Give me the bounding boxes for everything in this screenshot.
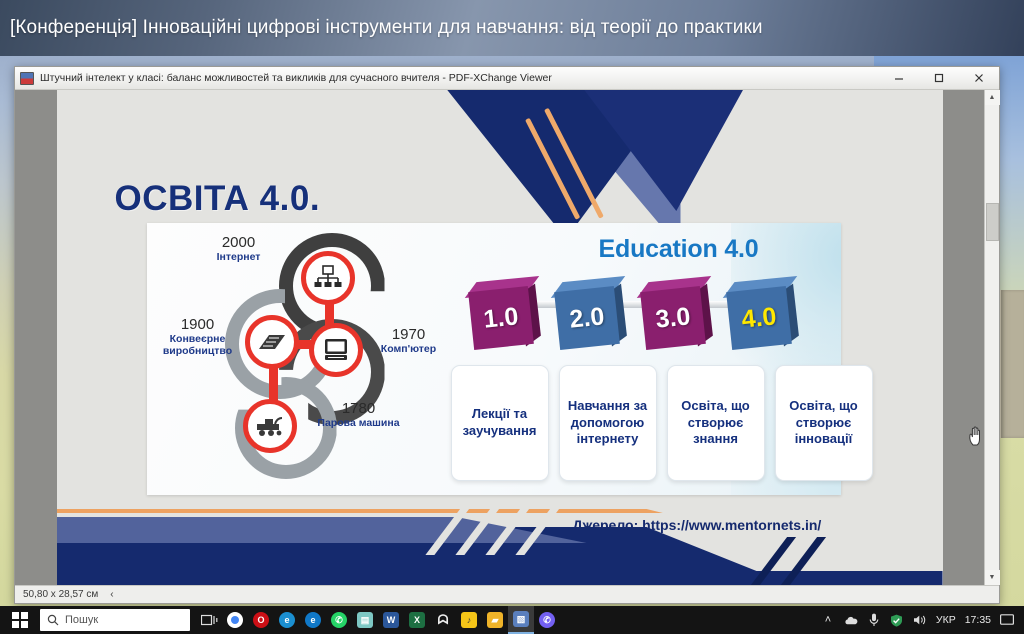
education-box-3: Освіта, що створює знання bbox=[667, 365, 765, 481]
cube-3: 3.0 bbox=[637, 279, 711, 351]
cube-2: 2.0 bbox=[551, 279, 625, 351]
edge-icon: e bbox=[279, 612, 295, 628]
clock[interactable]: 17:35 bbox=[965, 614, 991, 626]
cube-1-label: 1.0 bbox=[468, 286, 534, 350]
chevron-up-icon[interactable]: ˄ bbox=[821, 612, 835, 628]
language-indicator[interactable]: УКР bbox=[936, 614, 956, 626]
taskbar-app-explorer[interactable]: ▰ bbox=[482, 606, 508, 634]
deco-bottom-orange-line bbox=[57, 509, 943, 513]
scroll-up-icon[interactable]: ▲ bbox=[985, 90, 1000, 105]
pdf-page-viewport[interactable]: ОСВІТА 4.0. bbox=[15, 90, 984, 585]
screen-share-panel bbox=[1000, 290, 1024, 438]
conference-title: [Конференція] Інноваційні цифрові інстру… bbox=[0, 17, 763, 39]
volume-icon[interactable] bbox=[913, 612, 927, 628]
security-shield-icon[interactable] bbox=[890, 612, 904, 628]
microphone-icon[interactable] bbox=[867, 612, 881, 628]
label-conveyor: 1900 Конвеєрне виробництво bbox=[149, 317, 247, 357]
education-title: Education 4.0 bbox=[539, 235, 819, 264]
windows-start-icon[interactable] bbox=[0, 606, 40, 634]
cube-3-label: 3.0 bbox=[640, 286, 706, 350]
cube-2-label: 2.0 bbox=[554, 286, 620, 350]
label-steam-machine: 1780 Парова машина bbox=[317, 401, 401, 430]
pdf-xchange-taskbar-icon: ▧ bbox=[513, 611, 529, 627]
conference-banner: [Конференція] Інноваційні цифрові інстру… bbox=[0, 0, 1024, 56]
window-titlebar[interactable]: Штучний інтелект у класі: баланс можливо… bbox=[15, 67, 999, 90]
window-title: Штучний інтелект у класі: баланс можливо… bbox=[40, 72, 879, 84]
slide-content-card: 2000 Інтернет 1900 Конвеєрне виробництво… bbox=[147, 223, 841, 495]
cat-app-icon: ᗣ bbox=[435, 612, 451, 628]
search-placeholder: Пошук bbox=[65, 614, 98, 626]
mouse-cursor-hand-icon bbox=[968, 425, 988, 449]
slide-title: ОСВІТА 4.0. bbox=[115, 179, 321, 219]
label-internet: 2000 Інтернет bbox=[187, 235, 291, 264]
scroll-down-icon[interactable]: ▼ bbox=[985, 570, 1000, 585]
education-box-4: Освіта, що створює інновації bbox=[775, 365, 873, 481]
search-icon bbox=[47, 614, 59, 626]
pdf-xchange-window: Штучний інтелект у класі: баланс можливо… bbox=[14, 66, 1000, 604]
minimize-icon[interactable] bbox=[879, 67, 919, 89]
pdf-xchange-icon bbox=[20, 72, 34, 85]
cube-4-label: 4.0 bbox=[726, 286, 792, 350]
scrollbar-track[interactable] bbox=[985, 241, 1000, 570]
education-box-2: Навчання за допомогою інтернету bbox=[559, 365, 657, 481]
node-steam-machine bbox=[243, 399, 297, 453]
taskbar-app-chrome[interactable] bbox=[222, 606, 248, 634]
steam-train-icon bbox=[254, 414, 286, 438]
industrial-revolution-infographic: 2000 Інтернет 1900 Конвеєрне виробництво… bbox=[157, 227, 447, 489]
taskbar-app-word[interactable]: W bbox=[378, 606, 404, 634]
file-explorer-icon: ▰ bbox=[487, 612, 503, 628]
restore-icon[interactable] bbox=[919, 67, 959, 89]
excel-icon: X bbox=[409, 612, 425, 628]
teal-app-icon: ▤ bbox=[357, 612, 373, 628]
network-icon bbox=[314, 265, 342, 291]
cube-4: 4.0 bbox=[723, 279, 797, 351]
scrollbar-thumb[interactable] bbox=[986, 203, 999, 241]
taskbar-app-edge[interactable]: e bbox=[300, 606, 326, 634]
notes-icon: ♪ bbox=[461, 612, 477, 628]
taskbar-app-opera[interactable]: O bbox=[248, 606, 274, 634]
taskbar-app-whatsapp[interactable]: ✆ bbox=[326, 606, 352, 634]
taskbar-app-cat[interactable]: ᗣ bbox=[430, 606, 456, 634]
cube-1: 1.0 bbox=[465, 279, 539, 351]
windows-taskbar: Пошук O e e ✆ ▤ W X ᗣ ♪ ▰ ▧ ✆ ˄ УКР 17:3… bbox=[0, 606, 1024, 634]
opera-icon: O bbox=[253, 612, 269, 628]
taskbar-app-pdf-xchange[interactable]: ▧ bbox=[508, 606, 534, 634]
taskbar-app-edge-old[interactable]: e bbox=[274, 606, 300, 634]
window-client-area: ОСВІТА 4.0. bbox=[15, 90, 999, 585]
slide-canvas: ОСВІТА 4.0. bbox=[57, 90, 943, 585]
page-size-label: 50,80 x 28,57 см bbox=[23, 589, 98, 600]
system-tray: ˄ УКР 17:35 bbox=[821, 612, 1024, 628]
taskbar-app-excel[interactable]: X bbox=[404, 606, 430, 634]
conveyor-icon bbox=[257, 331, 287, 353]
computer-icon bbox=[323, 337, 349, 363]
deco-bottom-group bbox=[57, 485, 943, 585]
taskbar-app-teal[interactable]: ▤ bbox=[352, 606, 378, 634]
statusbar-chevron-icon[interactable]: ‹ bbox=[110, 589, 113, 600]
chrome-icon bbox=[227, 612, 243, 628]
vertical-scrollbar[interactable]: ▲ ▼ bbox=[984, 90, 999, 585]
taskbar-app-notes[interactable]: ♪ bbox=[456, 606, 482, 634]
node-conveyor bbox=[245, 315, 299, 369]
taskbar-app-viber[interactable]: ✆ bbox=[534, 606, 560, 634]
edge-chromium-icon: e bbox=[305, 612, 321, 628]
onedrive-icon[interactable] bbox=[844, 612, 858, 628]
task-view-icon[interactable] bbox=[196, 606, 222, 634]
window-statusbar: 50,80 x 28,57 см ‹ bbox=[15, 585, 999, 603]
close-icon[interactable] bbox=[959, 67, 999, 89]
whatsapp-icon: ✆ bbox=[331, 612, 347, 628]
education-box-1: Лекції та заучування bbox=[451, 365, 549, 481]
node-internet bbox=[301, 251, 355, 305]
node-computer bbox=[309, 323, 363, 377]
viber-icon: ✆ bbox=[539, 612, 555, 628]
label-computer: 1970 Комп'ютер bbox=[369, 327, 449, 356]
notification-icon[interactable] bbox=[1000, 612, 1014, 628]
word-icon: W bbox=[383, 612, 399, 628]
search-input[interactable]: Пошук bbox=[40, 609, 190, 631]
